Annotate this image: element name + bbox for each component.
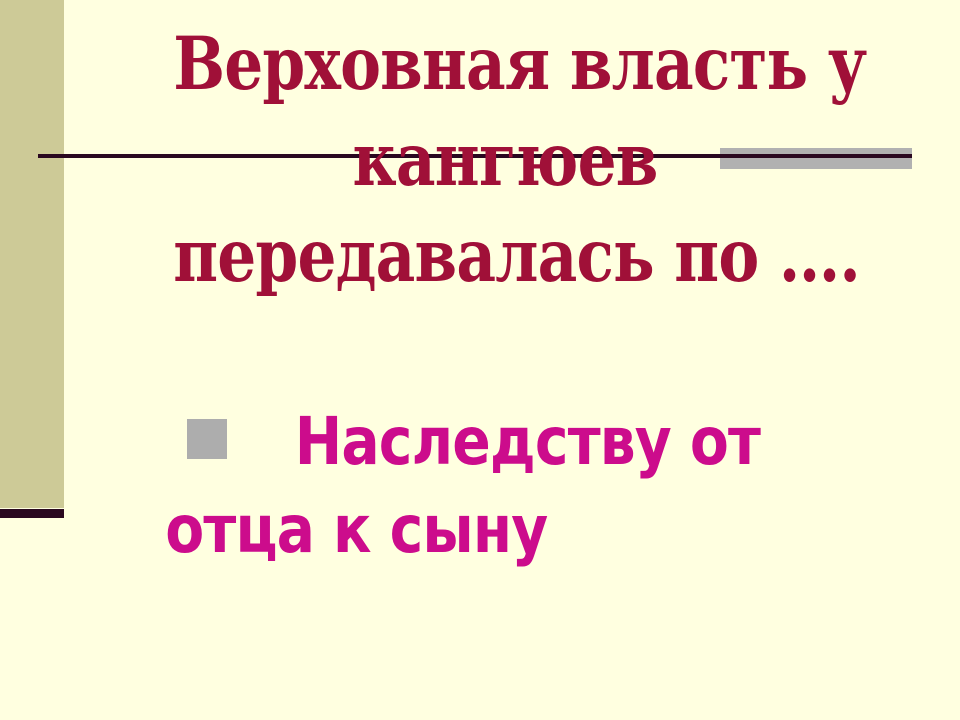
bullet-list-item: Наследству от (110, 398, 900, 486)
slide-title: Верховная власть у кангюев передавалась … (110, 16, 900, 304)
body-line-1: Наследству от (165, 398, 844, 486)
left-accent-band (0, 0, 64, 508)
title-line-3: передавалась по …. (173, 208, 837, 304)
title-line-1: Верховная власть у (173, 16, 837, 112)
title-line-2: кангюев (173, 112, 837, 208)
slide-body: Наследству от отца к сыну (110, 398, 900, 574)
slide-canvas: Верховная власть у кангюев передавалась … (0, 0, 960, 720)
left-accent-band-foot (0, 509, 64, 518)
body-line-2: отца к сыну (165, 486, 844, 574)
